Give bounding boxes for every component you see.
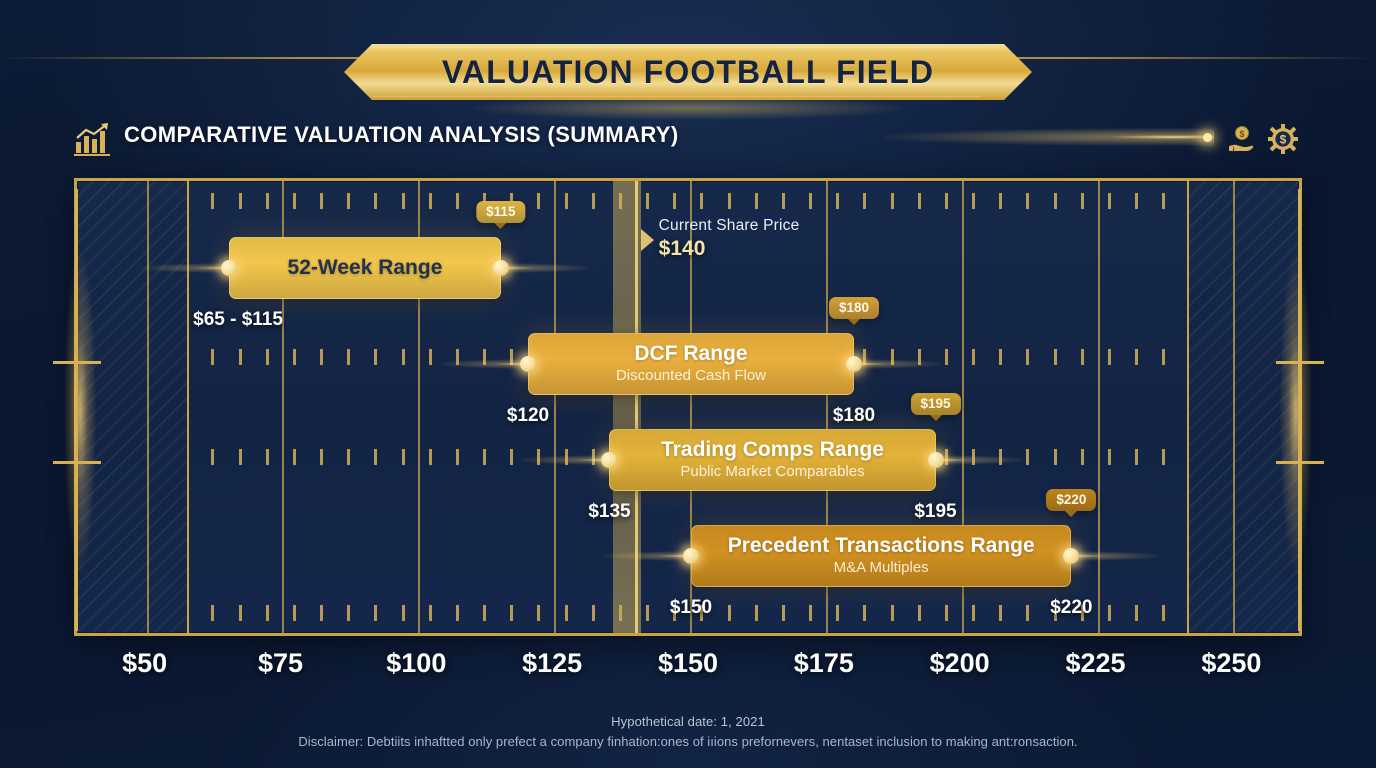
axis-tick-label: $225 (1065, 648, 1125, 679)
hash-mark (945, 449, 948, 465)
hash-mark (266, 349, 269, 365)
hash-mark (565, 605, 568, 621)
bar-title: Trading Comps Range (661, 439, 884, 461)
hash-mark (972, 193, 975, 209)
header-light-streak (884, 128, 1214, 146)
range-low-label: $135 (588, 501, 630, 523)
hash-mark (293, 605, 296, 621)
range-high-label: $220 (1050, 597, 1092, 619)
current-price-arrow (641, 229, 654, 251)
hash-mark (429, 193, 432, 209)
bar-title: 52-Week Range (288, 257, 443, 279)
hash-mark (565, 193, 568, 209)
axis-tick-label: $75 (258, 648, 303, 679)
bar-title: DCF Range (634, 343, 747, 365)
hash-mark (1054, 449, 1057, 465)
hash-mark (1026, 605, 1029, 621)
hash-mark (456, 193, 459, 209)
hash-mark (999, 605, 1002, 621)
banner-glow (470, 96, 910, 120)
hash-mark (646, 193, 649, 209)
hash-mark (1135, 193, 1138, 209)
hash-mark (809, 193, 812, 209)
hash-mark (836, 605, 839, 621)
hash-mark (456, 449, 459, 465)
axis-tick-label: $175 (794, 648, 854, 679)
yard-line (147, 181, 149, 633)
hash-mark (320, 449, 323, 465)
hash-mark (972, 349, 975, 365)
hash-mark (646, 605, 649, 621)
hash-mark (673, 193, 676, 209)
hash-mark (374, 449, 377, 465)
hash-mark (728, 193, 731, 209)
range-endpoint-knob[interactable] (221, 260, 237, 276)
range-endpoint-knob[interactable] (601, 452, 617, 468)
football-field-chart: Current Share Price $140 52-Week Range$1… (74, 178, 1302, 636)
bar-subtitle: M&A Multiples (834, 558, 929, 578)
footer: Hypothetical date: 1, 2021 Disclaimer: D… (0, 714, 1376, 749)
hash-mark (510, 349, 513, 365)
hash-mark (1026, 193, 1029, 209)
axis-tick-label: $200 (930, 648, 990, 679)
hash-mark (945, 193, 948, 209)
svg-text:$: $ (1280, 132, 1287, 146)
endpoint-glow (1071, 551, 1163, 561)
hash-mark (293, 193, 296, 209)
disclaimer-text: Disclaimer: Debtiits inhaftted only pref… (0, 734, 1376, 749)
hash-mark (293, 349, 296, 365)
range-endpoint-knob[interactable] (928, 452, 944, 468)
hash-mark (402, 349, 405, 365)
hash-mark (565, 449, 568, 465)
hash-mark (347, 605, 350, 621)
hash-mark (374, 193, 377, 209)
valuation-bar[interactable]: 52-Week Range (229, 237, 501, 299)
yard-line (554, 181, 556, 633)
hash-mark (510, 449, 513, 465)
current-price-label: Current Share Price $140 (659, 217, 800, 261)
hash-mark (945, 349, 948, 365)
hash-mark (1162, 349, 1165, 365)
axis-tick-label: $250 (1201, 648, 1261, 679)
hash-mark (782, 605, 785, 621)
hash-mark (863, 605, 866, 621)
hash-mark (239, 449, 242, 465)
page-title: VALUATION FOOTBALL FIELD (442, 54, 934, 91)
current-price-caption: Current Share Price (659, 217, 800, 235)
hash-mark (483, 449, 486, 465)
hash-mark (266, 193, 269, 209)
header-light-dot (1203, 133, 1212, 142)
hash-mark (999, 193, 1002, 209)
hash-mark (239, 349, 242, 365)
bar-title: Precedent Transactions Range (728, 535, 1035, 557)
hand-holding-coin-icon: $ (1226, 124, 1256, 154)
hash-mark (537, 605, 540, 621)
current-price-value: $140 (659, 237, 800, 261)
hash-mark (211, 193, 214, 209)
hash-mark (320, 193, 323, 209)
hash-mark (891, 605, 894, 621)
hash-mark (863, 193, 866, 209)
hash-mark (510, 605, 513, 621)
bar-subtitle: Discounted Cash Flow (616, 366, 766, 386)
hypothetical-date: Hypothetical date: 1, 2021 (0, 714, 1376, 729)
hash-mark (347, 349, 350, 365)
endpoint-glow (501, 263, 593, 273)
hash-mark (863, 349, 866, 365)
hash-mark (1135, 605, 1138, 621)
range-high-label: $180 (833, 405, 875, 427)
hash-mark (1081, 193, 1084, 209)
hash-mark (429, 449, 432, 465)
hash-mark (483, 349, 486, 365)
hash-mark (891, 349, 894, 365)
hash-mark (266, 449, 269, 465)
hash-mark (700, 193, 703, 209)
hash-mark (320, 349, 323, 365)
bar-subtitle: Public Market Comparables (680, 462, 864, 482)
hash-mark (211, 449, 214, 465)
goalpost-left (75, 189, 78, 631)
endzone-right (1187, 181, 1299, 633)
value-badge: $180 (829, 297, 879, 319)
valuation-bar[interactable]: DCF RangeDiscounted Cash Flow (528, 333, 854, 395)
hash-mark (374, 349, 377, 365)
hash-mark (211, 349, 214, 365)
hash-mark (1081, 349, 1084, 365)
hash-mark (537, 193, 540, 209)
hash-mark (592, 449, 595, 465)
svg-text:$: $ (1239, 129, 1244, 139)
hash-mark (836, 193, 839, 209)
hash-mark (293, 449, 296, 465)
hash-mark (1081, 449, 1084, 465)
hash-mark (347, 449, 350, 465)
range-endpoint-knob[interactable] (493, 260, 509, 276)
hash-mark (755, 193, 758, 209)
endzone-left (77, 181, 189, 633)
hash-mark (728, 605, 731, 621)
range-endpoint-knob[interactable] (1063, 548, 1079, 564)
hash-mark (592, 193, 595, 209)
value-badge: $115 (476, 201, 525, 223)
price-axis: $50$75$100$125$150$175$200$225$250 (74, 648, 1302, 688)
gear-dollar-icon: $ (1268, 124, 1298, 154)
axis-tick-label: $150 (658, 648, 718, 679)
hash-mark (972, 605, 975, 621)
hash-mark-row (77, 193, 1305, 209)
hash-mark (1162, 193, 1165, 209)
hash-mark (211, 605, 214, 621)
valuation-football-field-page: VALUATION FOOTBALL FIELD COMPARATIVE VAL… (0, 0, 1376, 768)
section-header: COMPARATIVE VALUATION ANALYSIS (SUMMARY)… (74, 120, 1302, 172)
hash-mark (1108, 349, 1111, 365)
hash-mark (456, 605, 459, 621)
hash-mark (1054, 193, 1057, 209)
hash-mark (1135, 449, 1138, 465)
hash-mark (1026, 449, 1029, 465)
axis-tick-label: $100 (386, 648, 446, 679)
hash-mark (266, 605, 269, 621)
range-low-label: $120 (507, 405, 549, 427)
hash-mark (1162, 449, 1165, 465)
hash-mark (429, 605, 432, 621)
valuation-bar[interactable]: Trading Comps RangePublic Market Compara… (609, 429, 935, 491)
hash-mark (239, 605, 242, 621)
title-banner: VALUATION FOOTBALL FIELD (344, 44, 1032, 100)
hash-mark (537, 449, 540, 465)
hash-mark (809, 605, 812, 621)
hash-mark (1108, 193, 1111, 209)
value-badge: $195 (910, 393, 960, 415)
hash-mark (918, 193, 921, 209)
hash-mark (945, 605, 948, 621)
yard-line (1233, 181, 1235, 633)
range-endpoint-knob[interactable] (683, 548, 699, 564)
hash-mark (429, 349, 432, 365)
axis-tick-label: $125 (522, 648, 582, 679)
hash-mark (755, 605, 758, 621)
hash-mark (999, 449, 1002, 465)
hash-mark (999, 349, 1002, 365)
range-label: $65 - $115 (193, 309, 283, 331)
hash-mark (918, 349, 921, 365)
valuation-bar[interactable]: Precedent Transactions RangeM&A Multiple… (691, 525, 1071, 587)
range-high-label: $195 (914, 501, 956, 523)
current-price-line (635, 181, 638, 633)
hash-mark (483, 605, 486, 621)
hash-mark (1162, 605, 1165, 621)
hash-mark (1054, 349, 1057, 365)
hash-mark (402, 605, 405, 621)
hash-mark (1135, 349, 1138, 365)
yard-line (1098, 181, 1100, 633)
hash-mark (592, 605, 595, 621)
hash-mark (374, 605, 377, 621)
hash-mark (456, 349, 459, 365)
range-endpoint-knob[interactable] (846, 356, 862, 372)
goalpost-right (1298, 189, 1301, 631)
hash-mark (918, 605, 921, 621)
axis-tick-label: $50 (122, 648, 167, 679)
bar-chart-growth-icon (74, 122, 114, 156)
hash-mark (1108, 449, 1111, 465)
hash-mark (782, 193, 785, 209)
title-banner-area: VALUATION FOOTBALL FIELD (0, 22, 1376, 94)
hash-mark (402, 449, 405, 465)
value-badge: $220 (1046, 489, 1096, 511)
hash-mark (239, 193, 242, 209)
hash-mark (320, 605, 323, 621)
hash-mark (972, 449, 975, 465)
hash-mark (347, 193, 350, 209)
hash-mark (402, 193, 405, 209)
hash-mark (1026, 349, 1029, 365)
range-low-label: $150 (670, 597, 712, 619)
section-title: COMPARATIVE VALUATION ANALYSIS (SUMMARY) (124, 122, 679, 148)
hash-mark (891, 193, 894, 209)
range-endpoint-knob[interactable] (520, 356, 536, 372)
hash-mark (1108, 605, 1111, 621)
